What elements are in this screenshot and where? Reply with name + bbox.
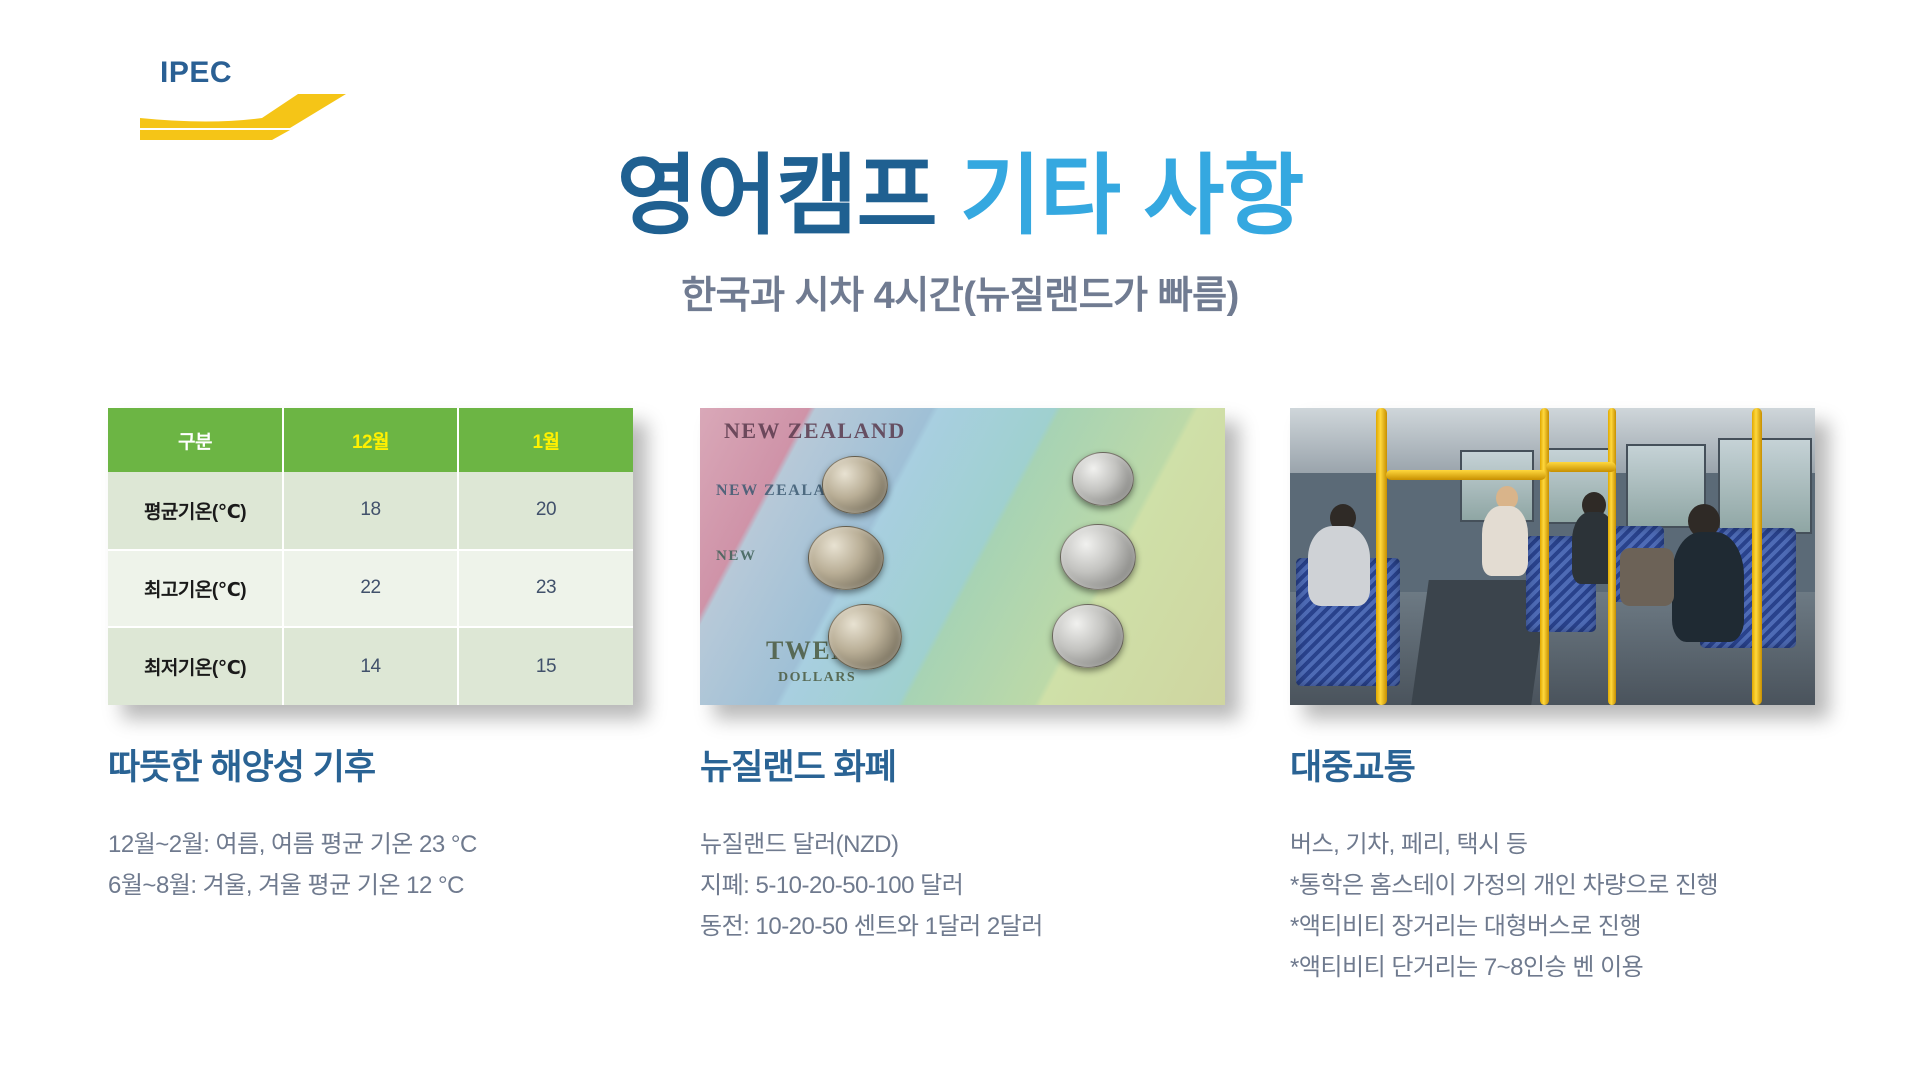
- table-row: 최저기온(℃) 14 15: [108, 627, 633, 705]
- ipec-logo: IPEC: [140, 48, 360, 128]
- temperature-table-container: 구분 12월 1월 평균기온(℃) 18 20 최고기온(℃) 22 23 최저…: [108, 408, 633, 705]
- cell-max-dec: 22: [283, 550, 458, 628]
- bus-pole-2: [1540, 408, 1549, 705]
- title-block: 영어캠프 기타 사항 한국과 시차 4시간(뉴질랜드가 빠름): [0, 150, 1920, 319]
- coin-3: [808, 526, 884, 590]
- page-title-primary: 영어캠프: [617, 146, 960, 245]
- section-currency: NEW ZEALAND NEW ZEALAND NEW TWENTY DOLLA…: [700, 408, 1240, 949]
- temperature-table: 구분 12월 1월 평균기온(℃) 18 20 최고기온(℃) 22 23 최저…: [108, 408, 633, 705]
- banknote-label-3: NEW: [716, 548, 756, 565]
- banknote-label-5: DOLLARS: [778, 670, 856, 686]
- coin-6: [1052, 604, 1124, 668]
- row-label-max-temp: 최고기온(℃): [108, 550, 283, 628]
- bus-handrail-1: [1386, 470, 1546, 480]
- body-transport-line-4: *액티비티 단거리는 7~8인승 벤 이용: [1290, 949, 1830, 988]
- cell-max-jan: 23: [458, 550, 633, 628]
- body-transport-line-2: *통학은 홈스테이 가정의 개인 차량으로 진행: [1290, 867, 1830, 906]
- heading-climate: 따뜻한 해양성 기후: [108, 739, 648, 790]
- body-transport-line-3: *액티비티 장거리는 대형버스로 진행: [1290, 908, 1830, 947]
- body-currency-line-3: 동전: 10-20-50 센트와 1달러 2달러: [700, 908, 1240, 947]
- row-label-min-temp: 최저기온(℃): [108, 627, 283, 705]
- page-title: 영어캠프 기타 사항: [0, 150, 1920, 242]
- coin-5: [828, 604, 902, 670]
- passenger-body-2: [1482, 506, 1528, 576]
- heading-transport: 대중교통: [1290, 739, 1830, 790]
- body-currency-line-2: 지폐: 5-10-20-50-100 달러: [700, 867, 1240, 906]
- bus-window-4: [1718, 438, 1812, 534]
- cell-avg-jan: 20: [458, 472, 633, 550]
- table-header-december: 12월: [283, 408, 458, 472]
- airplane-swoosh-icon: [140, 94, 346, 140]
- section-transport: 대중교통 버스, 기차, 페리, 택시 등 *통학은 홈스테이 가정의 개인 차…: [1290, 408, 1830, 990]
- cell-min-dec: 14: [283, 627, 458, 705]
- body-climate: 12월~2월: 여름, 여름 평균 기온 23 °C 6월~8월: 겨울, 겨울…: [108, 826, 648, 906]
- table-header-january: 1월: [458, 408, 633, 472]
- bus-pole-1: [1376, 408, 1387, 705]
- coin-1: [822, 456, 888, 514]
- section-climate: 구분 12월 1월 평균기온(℃) 18 20 최고기온(℃) 22 23 최저…: [108, 408, 648, 908]
- table-header-row: 구분 12월 1월: [108, 408, 633, 472]
- table-row: 평균기온(℃) 18 20: [108, 472, 633, 550]
- bus-handrail-2: [1546, 462, 1616, 472]
- heading-currency: 뉴질랜드 화폐: [700, 739, 1240, 790]
- body-currency: 뉴질랜드 달러(NZD) 지폐: 5-10-20-50-100 달러 동전: 1…: [700, 826, 1240, 947]
- passenger-backpack: [1620, 548, 1674, 606]
- cell-min-jan: 15: [458, 627, 633, 705]
- page-subtitle: 한국과 시차 4시간(뉴질랜드가 빠름): [0, 264, 1920, 319]
- bus-pole-4: [1752, 408, 1762, 705]
- coin-4: [1060, 524, 1136, 590]
- body-climate-line-1: 12월~2월: 여름, 여름 평균 기온 23 °C: [108, 826, 648, 865]
- table-row: 최고기온(℃) 22 23: [108, 550, 633, 628]
- body-currency-line-1: 뉴질랜드 달러(NZD): [700, 826, 1240, 865]
- transport-photo-container: [1290, 408, 1815, 705]
- body-transport: 버스, 기차, 페리, 택시 등 *통학은 홈스테이 가정의 개인 차량으로 진…: [1290, 826, 1830, 988]
- table-header-category: 구분: [108, 408, 283, 472]
- new-zealand-money-photo: NEW ZEALAND NEW ZEALAND NEW TWENTY DOLLA…: [700, 408, 1225, 705]
- bus-pole-3: [1608, 408, 1616, 705]
- public-transport-photo: [1290, 408, 1815, 705]
- body-transport-line-1: 버스, 기차, 페리, 택시 등: [1290, 826, 1830, 865]
- cell-avg-dec: 18: [283, 472, 458, 550]
- passenger-body-1: [1308, 526, 1370, 606]
- page-title-secondary: 기타 사항: [960, 146, 1303, 245]
- money-photo-container: NEW ZEALAND NEW ZEALAND NEW TWENTY DOLLA…: [700, 408, 1225, 705]
- logo-wordmark: IPEC: [160, 56, 232, 90]
- coin-2: [1072, 452, 1134, 506]
- row-label-avg-temp: 평균기온(℃): [108, 472, 283, 550]
- passenger-body-4: [1672, 532, 1744, 642]
- banknote-label-1: NEW ZEALAND: [724, 418, 906, 444]
- body-climate-line-2: 6월~8월: 겨울, 겨울 평균 기온 12 °C: [108, 867, 648, 906]
